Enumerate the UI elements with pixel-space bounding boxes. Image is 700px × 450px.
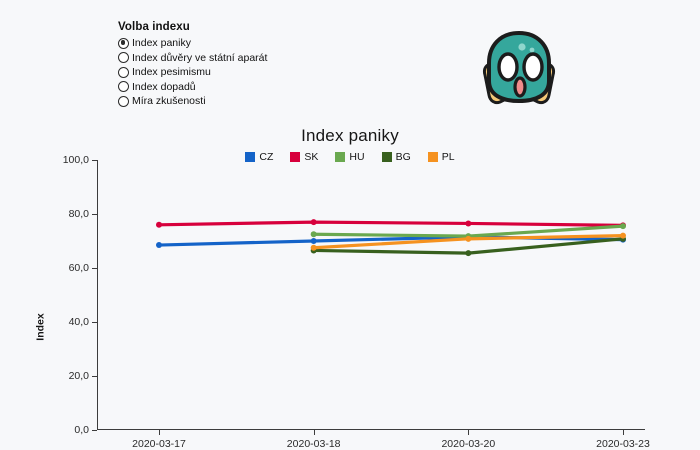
x-axis-tick-label: 2020-03-17 (132, 438, 186, 450)
plot-area: 0,020,040,060,080,0100,0 2020-03-172020-… (97, 160, 645, 430)
data-point-cz[interactable] (156, 242, 162, 248)
radio-option-3[interactable]: Index dopadů (118, 80, 348, 95)
data-point-hu[interactable] (311, 231, 317, 237)
series-line-sk (159, 222, 623, 225)
radio-button-icon[interactable] (118, 67, 129, 78)
data-point-sk[interactable] (156, 222, 162, 228)
y-axis-tick-label: 40,0 (69, 316, 89, 328)
y-axis-tick-label: 0,0 (74, 424, 89, 436)
radio-option-label: Index důvěry ve státní aparát (132, 52, 267, 64)
series-lines (97, 160, 645, 430)
data-point-pl[interactable] (465, 236, 471, 242)
y-axis-tick-label: 80,0 (69, 208, 89, 220)
index-selection-panel: Volba indexu Index panikyIndex důvěry ve… (118, 21, 348, 109)
data-point-hu[interactable] (620, 223, 626, 229)
x-axis-tick-mark (623, 430, 624, 435)
data-point-pl[interactable] (311, 245, 317, 251)
radio-option-label: Index dopadů (132, 81, 196, 93)
x-axis-tick-mark (314, 430, 315, 435)
data-point-sk[interactable] (311, 219, 317, 225)
emoji-highlight-small (530, 48, 535, 53)
emoji-highlight-large (518, 43, 525, 50)
line-chart: Index paniky CZSKHUBGPL Index 0,020,040,… (0, 112, 700, 419)
x-axis-tick-label: 2020-03-23 (596, 438, 650, 450)
index-radio-group[interactable]: Index panikyIndex důvěry ve státní apará… (118, 36, 348, 109)
radio-option-label: Index paniky (132, 37, 191, 49)
y-axis-tick-label: 100,0 (63, 154, 89, 166)
data-point-cz[interactable] (311, 238, 317, 244)
radio-button-icon[interactable] (118, 38, 129, 49)
emoji-right-eye (524, 54, 542, 80)
emoji-mouth (515, 78, 525, 96)
emoji-left-eye (499, 54, 517, 80)
radio-option-0[interactable]: Index paniky (118, 36, 348, 51)
radio-option-label: Index pesimismu (132, 66, 211, 78)
radio-option-label: Míra zkušenosti (132, 95, 206, 107)
emoji-svg (477, 25, 561, 105)
face-screaming-in-fear-emoji (477, 25, 561, 105)
radio-button-icon[interactable] (118, 81, 129, 92)
y-axis-title-label: Index (35, 313, 47, 340)
radio-button-icon[interactable] (118, 96, 129, 107)
radio-button-icon[interactable] (118, 52, 129, 63)
x-axis-tick-mark (468, 430, 469, 435)
x-axis-tick-label: 2020-03-18 (287, 438, 341, 450)
radio-option-1[interactable]: Index důvěry ve státní aparát (118, 51, 348, 66)
chart-title: Index paniky (0, 126, 700, 146)
radio-option-2[interactable]: Index pesimismu (118, 65, 348, 80)
y-axis-tick-label: 20,0 (69, 370, 89, 382)
y-axis-tick-label: 60,0 (69, 262, 89, 274)
radio-option-4[interactable]: Míra zkušenosti (118, 94, 348, 109)
data-point-bg[interactable] (465, 250, 471, 256)
x-axis-tick-label: 2020-03-20 (441, 438, 495, 450)
data-point-sk[interactable] (465, 220, 471, 226)
control-panel-legend-title: Volba indexu (118, 21, 348, 33)
y-axis-title: Index (34, 272, 48, 382)
y-axis-tick-mark (92, 430, 97, 431)
data-point-pl[interactable] (620, 233, 626, 239)
x-axis-tick-mark (159, 430, 160, 435)
